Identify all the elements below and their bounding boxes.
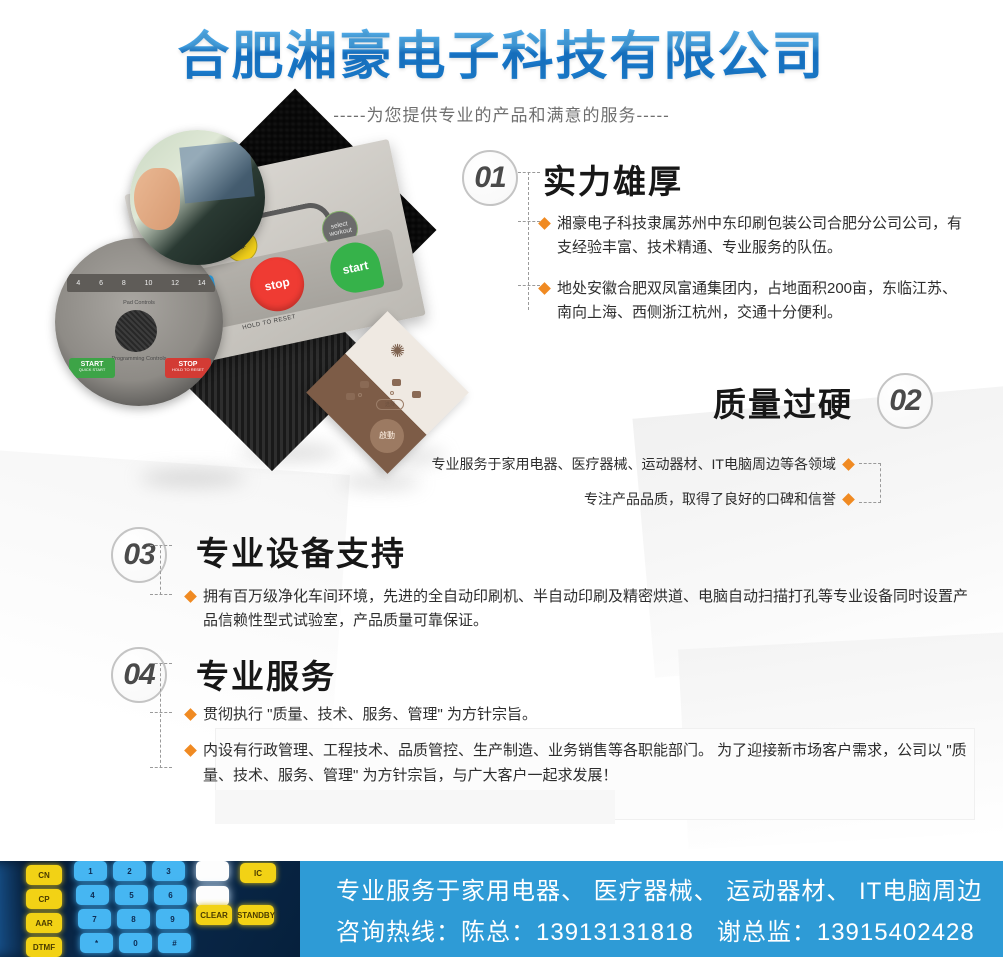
key-8[interactable]: 8 xyxy=(117,909,150,929)
speed-tick-scale: 4 6 8 10 12 14 xyxy=(67,274,215,292)
fruit-icon xyxy=(412,391,421,398)
bullet-text: 贯彻执行 "质量、技术、服务、管理" 为方针宗旨。 xyxy=(203,703,537,727)
indicator-dot xyxy=(390,391,394,395)
keypad-ic-key: IC xyxy=(240,863,276,883)
key-aar[interactable]: AAR xyxy=(26,913,62,933)
keypad-action-row: CLEAR STANDBY xyxy=(196,905,274,925)
key-1[interactable]: 1 xyxy=(74,861,107,881)
key-7[interactable]: 7 xyxy=(78,909,111,929)
tick-label: 6 xyxy=(99,280,103,287)
steamer-panel-face: ✺ 选择 啟動 xyxy=(330,335,445,450)
key-cp[interactable]: CP xyxy=(26,889,62,909)
pad-controls-caption: Pad Controls xyxy=(55,300,223,306)
section-02-connector-bullet-1 xyxy=(859,463,881,464)
key-hash[interactable]: # xyxy=(158,933,191,953)
tick-label: 10 xyxy=(145,280,153,287)
section-03-number: 03 xyxy=(111,527,167,583)
bullet-text: 专注产品品质，取得了良好的口碑和信誉 xyxy=(584,488,836,511)
bullet-text: 专业服务于家用电器、医疗器械、运动器材、IT电脑周边等各领域 xyxy=(432,453,836,476)
key-star[interactable]: * xyxy=(80,933,113,953)
section-01-title: 实力雄厚 xyxy=(543,155,683,203)
key-3[interactable]: 3 xyxy=(152,861,185,881)
keypad-number-row-3: 7 8 9 xyxy=(78,909,189,929)
section-02-bullets: 专业服务于家用电器、医疗器械、运动器材、IT电脑周边等各领域 专注产品品质，取得… xyxy=(432,453,853,522)
key-6[interactable]: 6 xyxy=(154,885,187,905)
key-2[interactable]: 2 xyxy=(113,861,146,881)
section-03-connector-vertical xyxy=(160,545,161,595)
contact2-phone: 13915402428 xyxy=(817,919,975,946)
bullet-item: 专业服务于家用电器、医疗器械、运动器材、IT电脑周边等各领域 xyxy=(432,453,853,476)
steamer-select-button[interactable]: 选择 xyxy=(376,399,404,410)
shadow-blob xyxy=(140,470,245,486)
section-03-connector-title xyxy=(150,545,172,546)
bullet-text: 地处安徽合肥双凤富通集团内，占地面积200亩，东临江苏、南向上海、西侧浙江杭州，… xyxy=(557,277,970,326)
key-cn[interactable]: CN xyxy=(26,865,62,885)
tick-label: 8 xyxy=(122,280,126,287)
bullet-item: 拥有百万级净化车间环境，先进的全自动印刷机、半自动印刷及精密烘道、电脑自动扫描打… xyxy=(186,585,976,634)
footer-hotline: 咨询热线：陈总：13913131818 谢总监：13915402428 xyxy=(336,912,1003,947)
key-blank-lower[interactable] xyxy=(196,886,229,906)
keypad-number-row-4: * 0 # xyxy=(80,933,191,953)
key-standby[interactable]: STANDBY xyxy=(238,905,274,925)
bullet-item: 内设有行政管理、工程技术、品质管控、生产制造、业务销售等各职能部门。 为了迎接新… xyxy=(186,739,976,788)
deck-stop-button[interactable]: STOP HOLD TO RESET xyxy=(165,358,211,378)
key-4[interactable]: 4 xyxy=(76,885,109,905)
diamond-bullet-icon xyxy=(184,590,197,603)
section-01-connector-bullet-2 xyxy=(518,285,540,286)
section-01-connector-vertical xyxy=(528,172,529,310)
key-ic[interactable]: IC xyxy=(240,863,276,883)
promo-page: 合肥湘豪电子科技有限公司 -----为您提供专业的产品和满意的服务----- e… xyxy=(0,0,1003,957)
section-04-connector-bullet-2 xyxy=(150,767,172,768)
film-layer xyxy=(179,140,254,203)
section-01-bullets: 湘豪电子科技隶属苏州中东印刷包装公司合肥分公司公司，有支经验丰富、技术精通、专业… xyxy=(540,212,970,337)
footer-banner: CN CP AAR DTMF 1 2 3 4 5 6 7 8 9 * xyxy=(0,861,1003,957)
bullet-text: 拥有百万级净化车间环境，先进的全自动印刷机、半自动印刷及精密烘道、电脑自动扫描打… xyxy=(203,585,976,634)
key-9[interactable]: 9 xyxy=(156,909,189,929)
steam-icon xyxy=(360,381,369,388)
bullet-item: 贯彻执行 "质量、技术、服务、管理" 为方针宗旨。 xyxy=(186,703,976,727)
key-blank-upper[interactable] xyxy=(196,861,229,881)
tick-label: 4 xyxy=(76,280,80,287)
section-01-connector-title xyxy=(518,172,540,173)
keypad-number-row-2: 4 5 6 xyxy=(76,885,187,905)
deck-start-button[interactable]: START QUICK START xyxy=(69,358,115,378)
bullet-item: 地处安徽合肥双凤富通集团内，占地面积200亩，东临江苏、南向上海、西侧浙江杭州，… xyxy=(540,277,970,326)
shadow-blob xyxy=(340,475,420,488)
section-02-connector-bullet-2 xyxy=(859,502,881,503)
section-03-connector-bullet-1 xyxy=(150,594,172,595)
bullet-text: 湘豪电子科技隶属苏州中东印刷包装公司合肥分公司公司，有支经验丰富、技术精通、专业… xyxy=(557,212,970,261)
deck-knob xyxy=(115,310,157,352)
rice-icon xyxy=(392,379,401,386)
key-clear[interactable]: CLEAR xyxy=(196,905,232,925)
contact1-name: 陈总： xyxy=(461,919,536,946)
tick-label: 12 xyxy=(171,280,179,287)
company-title: 合肥湘豪电子科技有限公司 xyxy=(0,14,1003,89)
indicator-dot xyxy=(358,393,362,397)
diamond-bullet-icon xyxy=(184,708,197,721)
keypad-white-column xyxy=(196,861,229,906)
product-image-collage: enter display ▲ target ✹ select workout … xyxy=(45,120,465,520)
section-04-title: 专业服务 xyxy=(196,650,336,698)
section-04-bullets: 贯彻执行 "质量、技术、服务、管理" 为方针宗旨。 内设有行政管理、工程技术、品… xyxy=(186,703,976,800)
hotline-label: 咨询热线： xyxy=(336,919,461,946)
section-04-number: 04 xyxy=(111,647,167,703)
keypad-function-column: CN CP AAR DTMF xyxy=(26,865,62,957)
membrane-peel-photo xyxy=(130,130,265,265)
contact2-name: 谢总监： xyxy=(717,919,817,946)
footer-tagline: 专业服务于家用电器、 医疗器械、 运动器材、 IT电脑周边 xyxy=(336,871,1003,906)
diamond-bullet-icon xyxy=(538,282,551,295)
page-header: 合肥湘豪电子科技有限公司 -----为您提供专业的产品和满意的服务----- xyxy=(0,0,1003,120)
diamond-bullet-icon xyxy=(842,458,855,471)
section-04-connector-title xyxy=(150,663,172,664)
bullet-item: 湘豪电子科技隶属苏州中东印刷包装公司合肥分公司公司，有支经验丰富、技术精通、专业… xyxy=(540,212,970,261)
keypad-photo: CN CP AAR DTMF 1 2 3 4 5 6 7 8 9 * xyxy=(0,861,300,957)
deck-stop-sublabel: HOLD TO RESET xyxy=(165,368,211,372)
contact1-phone: 13913131818 xyxy=(536,919,694,946)
keypad-number-row-1: 1 2 3 xyxy=(74,861,185,881)
steamer-start-button[interactable]: 啟動 xyxy=(370,419,404,453)
key-0[interactable]: 0 xyxy=(119,933,152,953)
footer-contact-text: 专业服务于家用电器、 医疗器械、 运动器材、 IT电脑周边 咨询热线：陈总：13… xyxy=(300,861,1003,957)
section-04-connector-bullet-1 xyxy=(150,712,172,713)
diamond-bullet-icon xyxy=(538,217,551,230)
thumb-finger xyxy=(134,168,180,230)
section-01-number: 01 xyxy=(462,150,518,206)
section-04-connector-vertical xyxy=(160,663,161,768)
leaf-icon: ✺ xyxy=(390,341,416,363)
section-03-title: 专业设备支持 xyxy=(196,527,406,575)
section-01-connector-bullet-1 xyxy=(518,221,540,222)
key-5[interactable]: 5 xyxy=(115,885,148,905)
bullet-item: 专注产品品质，取得了良好的口碑和信誉 xyxy=(432,488,853,511)
diamond-bullet-icon xyxy=(184,744,197,757)
deck-start-sublabel: QUICK START xyxy=(69,368,115,372)
key-dtmf[interactable]: DTMF xyxy=(26,937,62,957)
veg-icon xyxy=(346,393,355,400)
section-02-title: 质量过硬 xyxy=(713,378,853,426)
section-02-number: 02 xyxy=(877,373,933,429)
section-03-bullets: 拥有百万级净化车间环境，先进的全自动印刷机、半自动印刷及精密烘道、电脑自动扫描打… xyxy=(186,585,976,646)
diamond-bullet-icon xyxy=(842,493,855,506)
bullet-text: 内设有行政管理、工程技术、品质管控、生产制造、业务销售等各职能部门。 为了迎接新… xyxy=(203,739,976,788)
tick-label: 14 xyxy=(198,280,206,287)
section-02-connector-vertical xyxy=(880,463,881,503)
